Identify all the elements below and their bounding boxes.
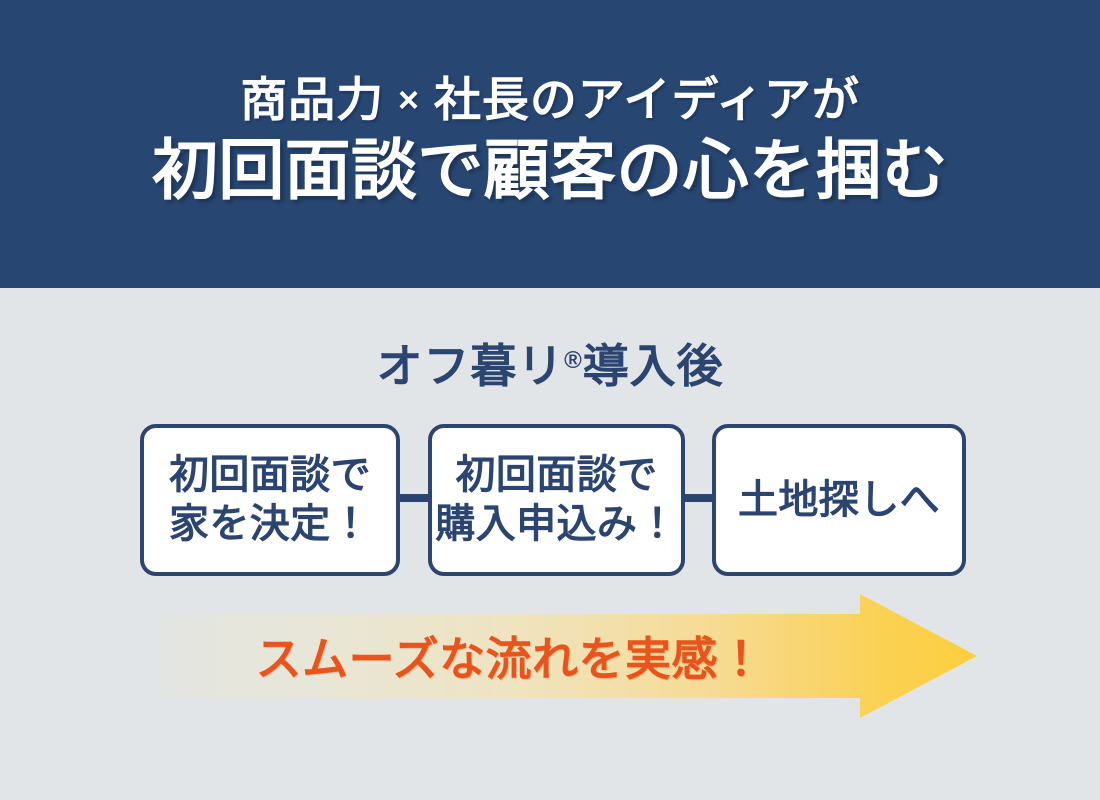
flow-step-1-text: 初回面談で 家を決定！ [169,451,371,549]
section-title-main: オフ暮リ [376,340,564,392]
flow-step-1-line-2: 家を決定！ [169,502,371,546]
flow-diagram: 初回面談で 家を決定！ 初回面談で 購入申込み！ 土地探しへ [140,424,966,576]
flow-step-2-line-2: 購入申込み！ [435,502,677,546]
flow-step-1[interactable]: 初回面談で 家を決定！ [140,424,400,576]
header-title-part-1: 商品力 [240,73,384,126]
section-title: オフ暮リ®導入後 [0,330,1100,396]
flow-step-3-line-1: 土地探しへ [738,476,940,525]
progress-arrow-banner: スムーズな流れを実感！ [160,594,977,718]
flow-step-2-text: 初回面談で 購入申込み！ [435,451,677,549]
multiplication-sign-icon: × [384,79,434,120]
flow-step-3[interactable]: 土地探しへ [712,424,966,576]
flow-step-2-line-1: 初回面談で [456,453,658,497]
header-title-part-2: 社長のアイディアが [434,73,860,126]
flow-step-2[interactable]: 初回面談で 購入申込み！ [428,424,685,576]
arrow-label: スムーズな流れを実感！ [160,594,860,718]
header-title-line-2: 初回面談で顧客の心を掴む [152,134,948,208]
section-title-tail: 導入後 [583,340,724,392]
content-area: オフ暮リ®導入後 初回面談で 家を決定！ 初回面談で 購入申込み！ 土地探しへ [0,288,1100,800]
flow-step-1-line-1: 初回面談で [169,453,371,497]
header-title-line-1: 商品力×社長のアイディアが [240,74,860,126]
registered-trademark-icon: ® [564,347,583,374]
header-banner: 商品力×社長のアイディアが 初回面談で顧客の心を掴む [0,0,1100,288]
